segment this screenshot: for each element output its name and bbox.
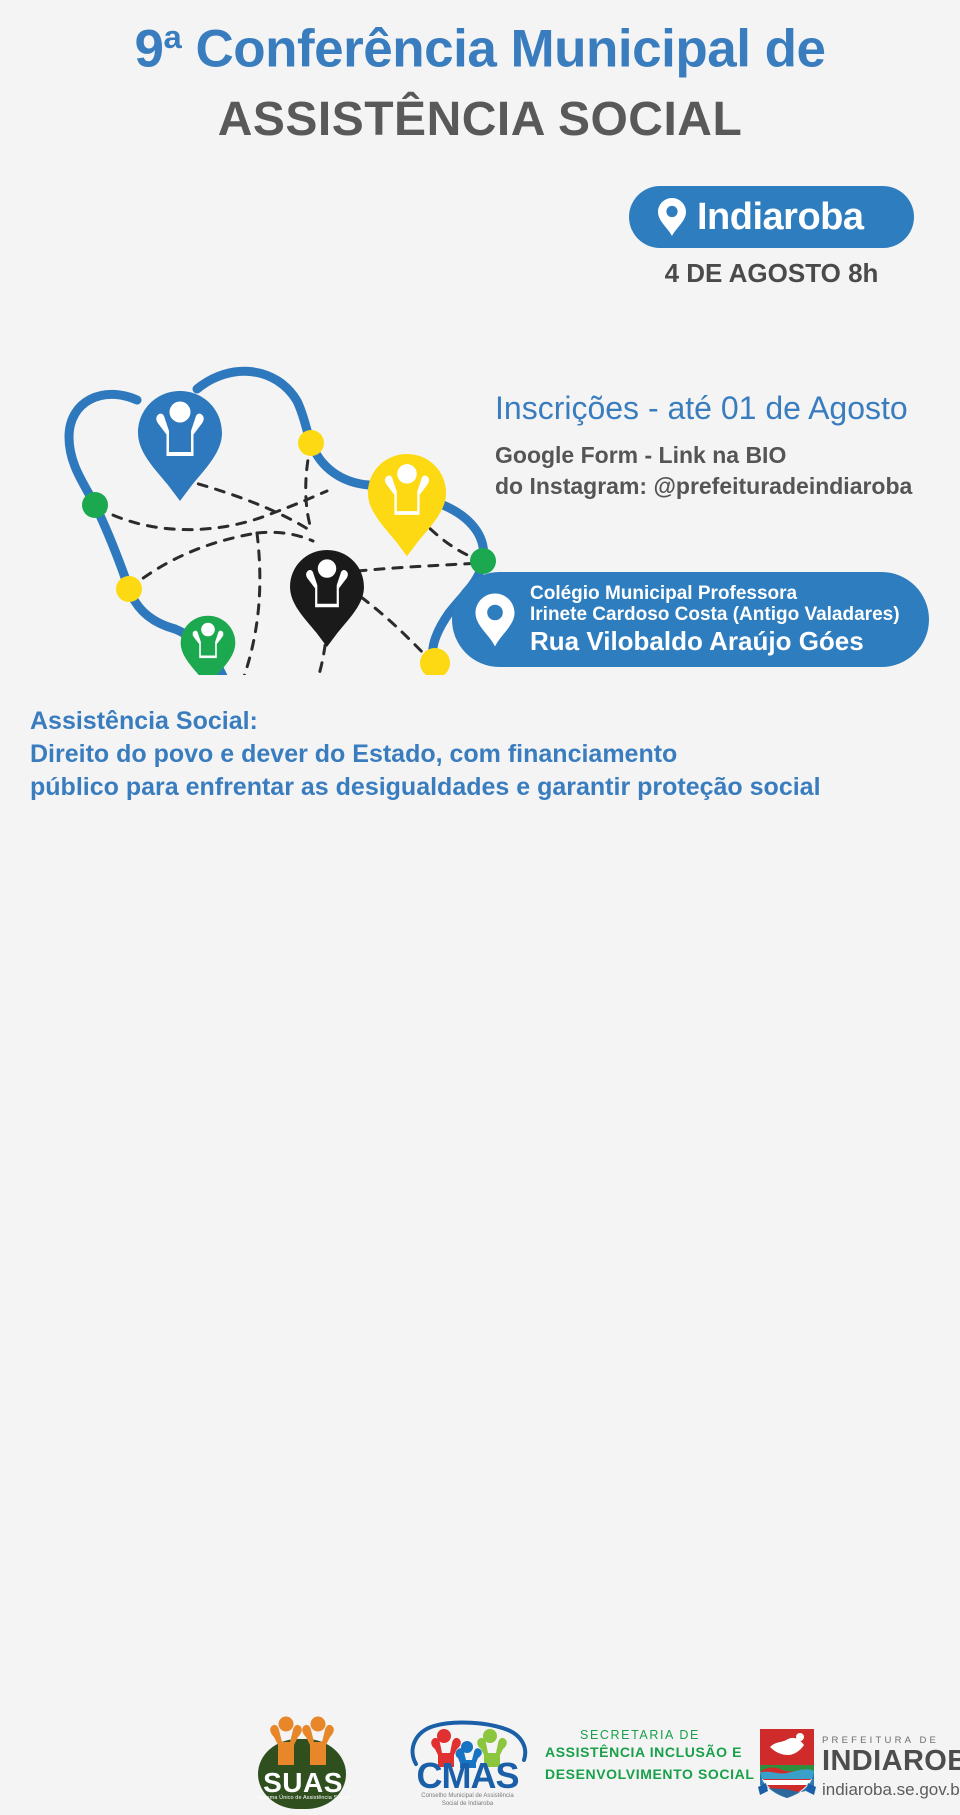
title-number: 9 bbox=[135, 20, 164, 79]
suas-subtitle: Sistema Único de Assistência Social bbox=[248, 1795, 358, 1801]
logo-strip: SUAS Sistema Único de Assistência Social… bbox=[0, 855, 960, 965]
coat-of-arms-icon bbox=[756, 1725, 818, 1801]
venue-line2: Irinete Cardoso Costa (Antigo Valadares) bbox=[530, 604, 900, 626]
map-pin-center-black bbox=[290, 550, 364, 647]
secretaria-line1: SECRETARIA DE bbox=[545, 1728, 735, 1742]
venue-text: Colégio Municipal Professora Irinete Car… bbox=[530, 583, 900, 657]
title-rest: Conferência Municipal de bbox=[181, 20, 825, 79]
slogan-line1: Assistência Social: bbox=[30, 705, 821, 738]
venue-line3: Rua Vilobaldo Araújo Góes bbox=[530, 627, 900, 657]
location-pin-icon bbox=[657, 197, 687, 237]
registration-detail-line2: do Instagram: @prefeituradeindiaroba bbox=[495, 471, 912, 502]
slogan: Assistência Social: Direito do povo e de… bbox=[30, 705, 821, 804]
logo-prefeitura: PREFEITURA DE INDIAROBA indiaroba.se.gov… bbox=[756, 1723, 946, 1815]
secretaria-line3: DESENVOLVIMENTO SOCIAL bbox=[545, 1764, 735, 1786]
cmas-subtitle-line2: Social de Indiaroba bbox=[400, 1800, 535, 1808]
slogan-line3: público para enfrentar as desigualdades … bbox=[30, 771, 821, 804]
map-pin-north-blue bbox=[138, 391, 222, 501]
cmas-subtitle-line1: Conselho Municipal de Assistência bbox=[400, 1792, 535, 1800]
registration-title: Inscrições - até 01 de Agosto bbox=[495, 390, 908, 427]
slogan-line2: Direito do povo e dever do Estado, com f… bbox=[30, 738, 821, 771]
prefeitura-line1: PREFEITURA DE bbox=[822, 1735, 939, 1746]
prefeitura-website: indiaroba.se.gov.br bbox=[822, 1780, 960, 1800]
venue-badge: Colégio Municipal Professora Irinete Car… bbox=[452, 572, 929, 667]
prefeitura-wordmark: INDIAROBA bbox=[822, 1747, 960, 1776]
city-badge-label: Indiaroba bbox=[697, 198, 864, 236]
registration-details: Google Form - Link na BIO do Instagram: … bbox=[495, 440, 912, 501]
secretaria-line2: ASSISTÊNCIA INCLUSÃO E bbox=[545, 1742, 735, 1764]
logo-secretaria: SECRETARIA DE ASSISTÊNCIA INCLUSÃO E DES… bbox=[545, 1728, 735, 1798]
cmas-wordmark: CMAS bbox=[400, 1758, 535, 1794]
brazil-map-network-illustration bbox=[25, 185, 515, 675]
page-title-line1: 9a Conferência Municipal de bbox=[0, 18, 960, 80]
title-ordinal: a bbox=[163, 18, 181, 55]
event-date: 4 DE AGOSTO 8h bbox=[629, 258, 914, 289]
city-badge: Indiaroba bbox=[629, 186, 914, 248]
node-dot-green bbox=[470, 548, 496, 574]
map-pin-northeast-yellow bbox=[368, 454, 446, 556]
location-pin-icon bbox=[474, 592, 516, 648]
node-dot-green bbox=[82, 492, 108, 518]
suas-people-icon bbox=[268, 1715, 336, 1767]
venue-line1: Colégio Municipal Professora bbox=[530, 583, 900, 605]
suas-wordmark: SUAS bbox=[248, 1769, 358, 1797]
node-dot-yellow bbox=[420, 648, 450, 675]
node-dot-yellow bbox=[116, 576, 142, 602]
registration-detail-line1: Google Form - Link na BIO bbox=[495, 440, 912, 471]
node-dot-yellow bbox=[298, 430, 324, 456]
logo-suas: SUAS Sistema Único de Assistência Social bbox=[248, 1715, 358, 1815]
poster-canvas: 9a Conferência Municipal de ASSISTÊNCIA … bbox=[0, 0, 960, 965]
page-title-line2: ASSISTÊNCIA SOCIAL bbox=[0, 92, 960, 147]
map-pin-west-green bbox=[181, 616, 236, 675]
logo-cmas: CMAS Conselho Municipal de Assistência S… bbox=[400, 1720, 535, 1815]
cmas-subtitle: Conselho Municipal de Assistência Social… bbox=[400, 1792, 535, 1808]
